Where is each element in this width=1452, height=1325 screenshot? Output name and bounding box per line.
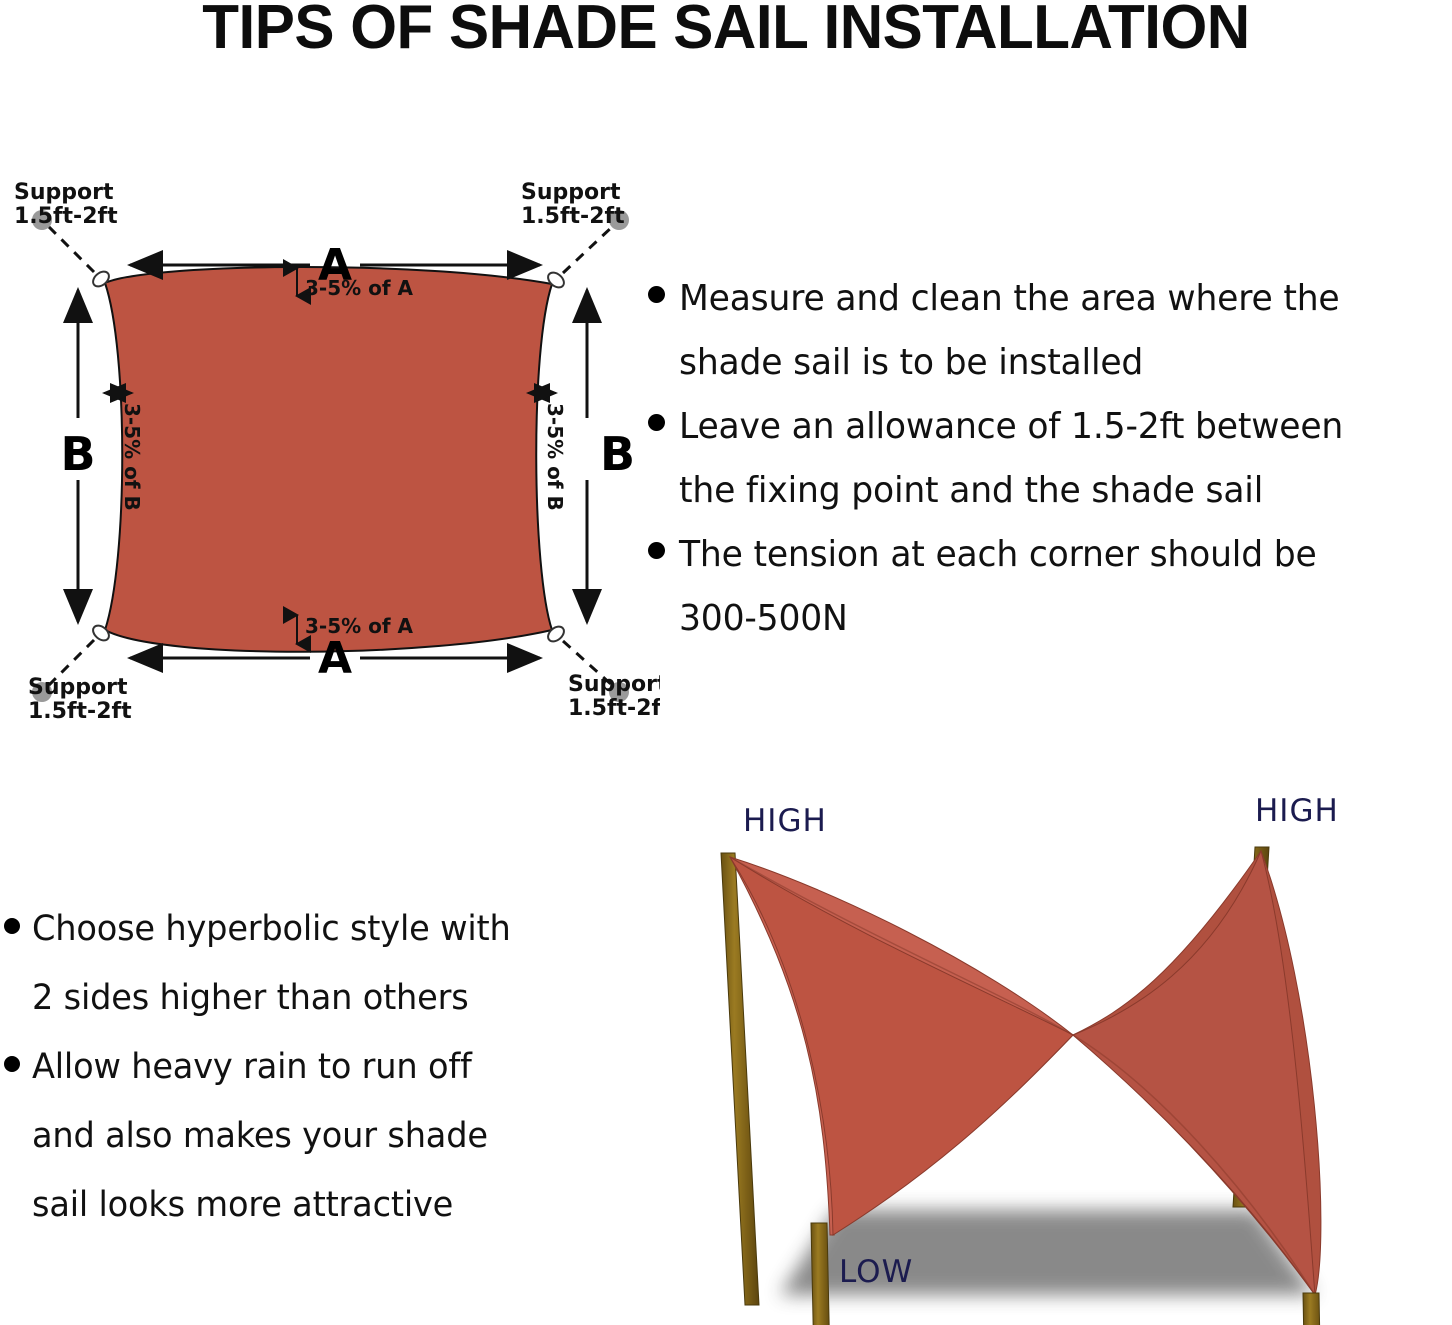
hyperbolic-style-list: Choose hyperbolic style with 2 sides hig… xyxy=(4,896,624,1241)
list-item-label: the fixing point and the shade sail xyxy=(679,460,1429,522)
bullet-dot-icon xyxy=(4,918,20,934)
bullet-dot-icon xyxy=(648,414,665,431)
list-item: Measure and clean the area where the xyxy=(648,268,1452,330)
bullet-dot-icon xyxy=(648,286,665,303)
label-high-right: HIGH xyxy=(1255,795,1339,829)
list-item: The tension at each corner should be xyxy=(648,524,1452,586)
list-item: sail looks more attractive xyxy=(4,1172,624,1239)
bullet-dot-icon xyxy=(648,542,665,559)
rectangular-sail-diagram: Support 1.5ft-2ft Support 1.5ft-2ft Supp… xyxy=(0,160,660,730)
list-item-label: Leave an allowance of 1.5-2ft between xyxy=(679,396,1429,458)
dimension-label-bottom-a: A xyxy=(318,633,352,684)
list-item-label: 300-500N xyxy=(679,588,1429,650)
support-label-bottom-right-line2: 1.5ft-2ft xyxy=(568,696,660,721)
sail-shape xyxy=(105,267,556,654)
list-item-label: The tension at each corner should be xyxy=(679,524,1429,586)
support-label-top-right-line2: 1.5ft-2ft xyxy=(521,204,625,229)
hyperbolic-sail-diagram: HIGH HIGH LOW LOW xyxy=(655,795,1452,1325)
support-label-top-left-line2: 1.5ft-2ft xyxy=(14,204,118,229)
support-label-bottom-left-line2: 1.5ft-2ft xyxy=(28,699,132,724)
list-item: 300-500N xyxy=(648,588,1452,650)
list-item-label: Allow heavy rain to run off xyxy=(32,1034,600,1101)
page-title: TIPS OF SHADE SAIL INSTALLATION xyxy=(22,0,1430,62)
pole-front-right xyxy=(1303,1293,1323,1325)
support-label-top-right-line1: Support xyxy=(521,180,621,205)
pole-back-left xyxy=(721,853,759,1305)
curvature-left: 3-5% of B xyxy=(104,393,144,511)
bullet-dot-icon xyxy=(4,1056,20,1072)
list-item-label: sail looks more attractive xyxy=(32,1172,600,1239)
list-item: Choose hyperbolic style with xyxy=(4,896,624,963)
list-item-label: 2 sides higher than others xyxy=(32,965,600,1032)
infographic-page: TIPS OF SHADE SAIL INSTALLATION xyxy=(0,0,1452,1325)
support-label-bottom-left-line1: Support xyxy=(28,675,128,700)
support-label-top-left-line1: Support xyxy=(14,180,114,205)
list-item: Leave an allowance of 1.5-2ft between xyxy=(648,396,1452,458)
list-item-label: shade sail is to be installed xyxy=(679,332,1429,394)
list-item: and also makes your shade xyxy=(4,1103,624,1170)
list-item-label: Choose hyperbolic style with xyxy=(32,896,600,963)
list-item-label: Measure and clean the area where the xyxy=(679,268,1429,330)
curvature-label-bottom: 3-5% of A xyxy=(305,614,414,638)
installation-tips-list: Measure and clean the area where the sha… xyxy=(648,268,1452,652)
dimension-label-left-b: B xyxy=(60,427,95,481)
curvature-label-right: 3-5% of B xyxy=(543,403,567,511)
curvature-label-left: 3-5% of B xyxy=(120,403,144,511)
list-item: 2 sides higher than others xyxy=(4,965,624,1032)
list-item: shade sail is to be installed xyxy=(648,332,1452,394)
list-item-label: and also makes your shade xyxy=(32,1103,600,1170)
list-item: Allow heavy rain to run off xyxy=(4,1034,624,1101)
label-low-left: LOW xyxy=(839,1254,913,1290)
curvature-label-top: 3-5% of A xyxy=(305,276,414,300)
list-item: the fixing point and the shade sail xyxy=(648,460,1452,522)
support-label-bottom-right-line1: Support xyxy=(568,672,660,697)
dimension-label-right-b: B xyxy=(600,427,635,481)
label-high-left: HIGH xyxy=(743,803,827,839)
